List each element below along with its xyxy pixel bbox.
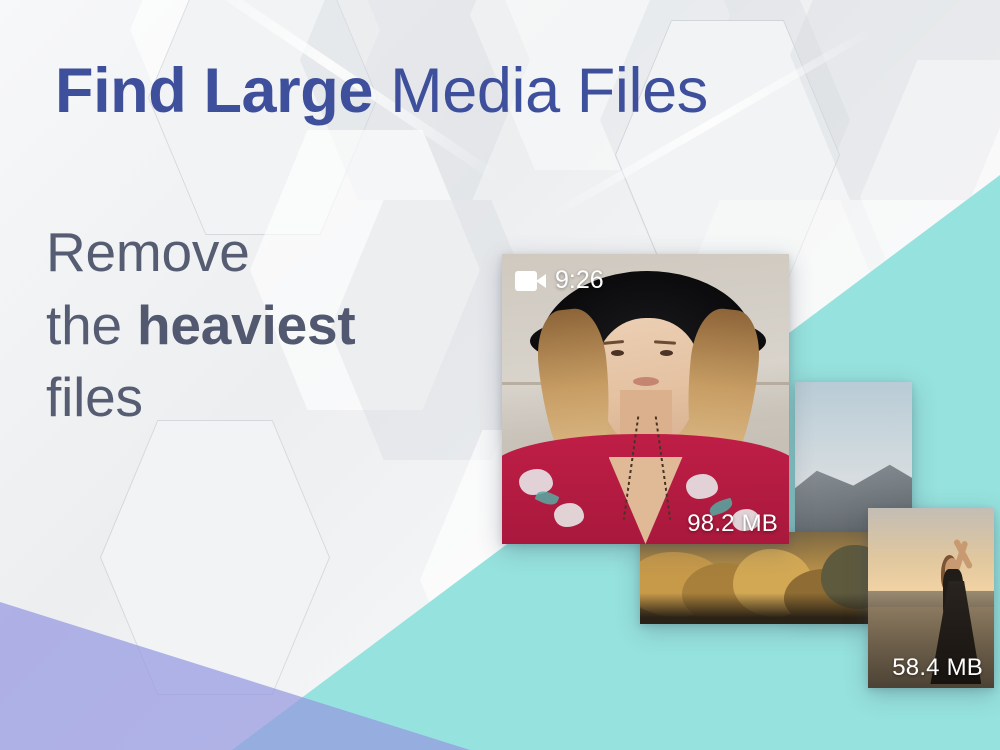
video-thumbnail-image	[502, 254, 789, 544]
file-size-label: 98.2 MB	[687, 510, 778, 538]
subtitle-line-2: the heaviest	[46, 289, 516, 362]
autumn-forest-card[interactable]	[640, 532, 872, 624]
floral-motif	[519, 469, 553, 495]
eye-right-shape	[660, 350, 673, 356]
beach-dancer-card[interactable]: 58.4 MB	[868, 508, 994, 688]
autumn-forest-image	[640, 532, 872, 624]
headline-strong: Find Large	[55, 56, 373, 126]
camera-body-shape	[515, 271, 537, 291]
camera-lens-shape	[536, 274, 546, 288]
video-duration-badge: 9:26	[515, 266, 604, 295]
subtitle-line-2-prefix: the	[46, 294, 137, 356]
page-title: Find Large Media Files	[55, 58, 708, 125]
video-camera-icon	[515, 271, 546, 291]
file-size-label: 58.4 MB	[892, 654, 983, 682]
subtitle-line-1: Remove	[46, 216, 516, 289]
promo-banner: Find Large Media Files Remove the heavie…	[0, 0, 1000, 750]
eye-left-shape	[611, 350, 624, 356]
video-portrait-card[interactable]: 9:26 98.2 MB	[502, 254, 789, 544]
headline-light: Media Files	[373, 56, 708, 126]
forest-shadow-layer	[640, 593, 872, 624]
subtitle-line-2-strong: heaviest	[137, 294, 356, 356]
video-duration-text: 9:26	[555, 266, 604, 295]
page-subtitle: Remove the heaviest files	[46, 216, 516, 434]
subtitle-line-3: files	[46, 361, 516, 434]
